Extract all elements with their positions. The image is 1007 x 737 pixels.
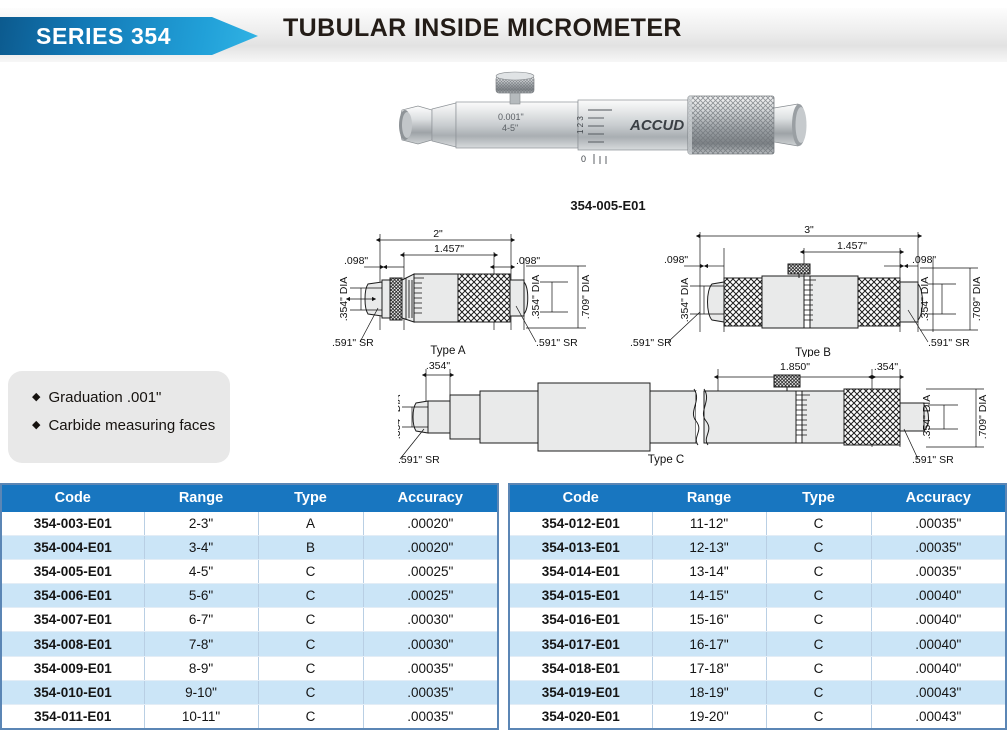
cell-range: 12-13" [652,535,766,559]
scale-range-text: 4-5" [502,123,518,133]
table-row[interactable]: 354-008-E01 7-8" C .00030" [1,632,498,656]
column-header-range: Range [652,484,766,511]
table-row[interactable]: 354-016-E01 15-16" C .00040" [509,608,1006,632]
svg-text:0: 0 [581,154,586,164]
drawing-type-b: 3" 1.457" .098" .098" .354" DIA .354" DI… [628,222,988,362]
table-row[interactable]: 354-019-E01 18-19" C .00043" [509,680,1006,704]
column-header-code: Code [1,484,144,511]
svg-text:1 2 3: 1 2 3 [576,116,585,134]
cell-type: C [766,535,871,559]
table-row[interactable]: 354-004-E01 3-4" B .00020" [1,535,498,559]
dim-left-step: .354" [426,360,450,372]
scale-graduation-text: 0.001" [498,112,524,122]
dim-inner: 1.457" [837,240,867,252]
table-row[interactable]: 354-014-E01 13-14" C .00035" [509,559,1006,583]
dim-left-step: .098" [664,254,688,266]
cell-accuracy: .00030" [363,608,498,632]
cell-accuracy: .00025" [363,584,498,608]
cell-accuracy: .00030" [363,632,498,656]
cell-code: 354-003-E01 [1,511,144,535]
cell-accuracy: .00020" [363,535,498,559]
cell-range: 19-20" [652,705,766,729]
cell-accuracy: .00035" [871,511,1006,535]
cell-type: C [258,705,363,729]
dim-right-step: .354" [874,361,898,373]
cell-code: 354-016-E01 [509,608,652,632]
series-arrow-badge: SERIES 354 [0,17,258,55]
feature-label: Graduation .001" [48,389,161,406]
column-header-range: Range [144,484,258,511]
table-row[interactable]: 354-006-E01 5-6" C .00025" [1,584,498,608]
cell-code: 354-020-E01 [509,705,652,729]
dim-overall: 2" [433,228,443,240]
cell-type: B [258,535,363,559]
cell-range: 13-14" [652,559,766,583]
cell-type: C [258,680,363,704]
cell-range: 10-11" [144,705,258,729]
cell-range: 3-4" [144,535,258,559]
dim-dia-right: .354" DIA [921,395,933,440]
drawing-label-c: Type C [648,454,684,466]
diamond-bullet-icon: ◆ [32,389,40,406]
column-header-accuracy: Accuracy [871,484,1006,511]
dim-overall: 3" [804,224,814,236]
cell-code: 354-004-E01 [1,535,144,559]
cell-type: C [766,584,871,608]
cell-accuracy: .00043" [871,705,1006,729]
table-row[interactable]: 354-017-E01 16-17" C .00040" [509,632,1006,656]
series-label: SERIES 354 [0,23,171,50]
features-box: ◆ Graduation .001" ◆ Carbide measuring f… [8,371,230,463]
table-row[interactable]: 354-011-E01 10-11" C .00035" [1,705,498,729]
feature-item: ◆ Carbide measuring faces [32,417,230,434]
cell-accuracy: .00020" [363,511,498,535]
feature-item: ◆ Graduation .001" [32,389,230,406]
page-title: TUBULAR INSIDE MICROMETER [283,14,682,43]
cell-range: 5-6" [144,584,258,608]
column-header-code: Code [509,484,652,511]
cell-range: 7-8" [144,632,258,656]
dim-dia-right: .354" DIA [919,277,931,322]
cell-type: C [258,608,363,632]
cell-code: 354-019-E01 [509,680,652,704]
table-row[interactable]: 354-013-E01 12-13" C .00035" [509,535,1006,559]
brand-text: ACCUD [629,117,684,134]
table-row[interactable]: 354-010-E01 9-10" C .00035" [1,680,498,704]
dim-sr-right: .591" SR [928,337,970,349]
cell-code: 354-008-E01 [1,632,144,656]
cell-code: 354-005-E01 [1,559,144,583]
dim-left-step: .098" [344,255,368,267]
cell-type: C [258,656,363,680]
spec-table-left: Code Range Type Accuracy 354-003-E01 2-3… [0,483,499,730]
cell-range: 18-19" [652,680,766,704]
cell-code: 354-010-E01 [1,680,144,704]
cell-range: 4-5" [144,559,258,583]
cell-accuracy: .00040" [871,632,1006,656]
dim-sr-left: .591" SR [332,337,374,349]
table-header-row: Code Range Type Accuracy [509,484,1006,511]
cell-accuracy: .00025" [363,559,498,583]
cell-type: C [766,511,871,535]
dim-sr-left: .591" SR [398,454,440,466]
diamond-bullet-icon: ◆ [32,417,40,434]
cell-type: C [258,584,363,608]
spec-table-right: Code Range Type Accuracy 354-012-E01 11-… [508,483,1007,730]
dim-sr-left: .591" SR [630,337,672,349]
column-header-type: Type [766,484,871,511]
feature-label: Carbide measuring faces [48,417,215,434]
cell-accuracy: .00040" [871,584,1006,608]
cell-accuracy: .00040" [871,608,1006,632]
cell-code: 354-007-E01 [1,608,144,632]
cell-code: 354-009-E01 [1,656,144,680]
catalog-page: SERIES 354 TUBULAR INSIDE MICROMETER [0,0,1007,737]
table-row[interactable]: 354-012-E01 11-12" C .00035" [509,511,1006,535]
table-row[interactable]: 354-018-E01 17-18" C .00040" [509,656,1006,680]
dim-dia-left: .354" DIA [398,395,403,440]
cell-range: 9-10" [144,680,258,704]
cell-accuracy: .00035" [363,705,498,729]
drawing-type-c: .354" 1.850" .354" .354" DIA .354" DIA .… [398,355,998,478]
dim-dia-right: .354" DIA [530,275,542,320]
cell-type: C [258,632,363,656]
cell-range: 2-3" [144,511,258,535]
cell-code: 354-006-E01 [1,584,144,608]
dim-sr-right: .591" SR [536,337,578,349]
column-header-accuracy: Accuracy [363,484,498,511]
cell-code: 354-017-E01 [509,632,652,656]
cell-range: 15-16" [652,608,766,632]
cell-type: C [766,656,871,680]
cell-range: 8-9" [144,656,258,680]
table-row[interactable]: 354-020-E01 19-20" C .00043" [509,705,1006,729]
dim-dia-outer: .709" DIA [971,277,983,322]
cell-accuracy: .00035" [363,680,498,704]
table-header-row: Code Range Type Accuracy [1,484,498,511]
product-photo: 0.001" 4-5" 1 2 3 0 ACCUD [398,68,818,188]
dim-right-main: 1.850" [780,361,810,373]
cell-type: C [766,632,871,656]
cell-accuracy: .00035" [871,535,1006,559]
cell-type: A [258,511,363,535]
dim-dia-outer: .709" DIA [580,275,592,320]
cell-range: 6-7" [144,608,258,632]
cell-accuracy: .00035" [363,656,498,680]
cell-type: C [258,559,363,583]
dim-inner: 1.457" [434,243,464,255]
table-row[interactable]: 354-007-E01 6-7" C .00030" [1,608,498,632]
cell-range: 11-12" [652,511,766,535]
cell-accuracy: .00035" [871,559,1006,583]
cell-range: 16-17" [652,632,766,656]
cell-range: 14-15" [652,584,766,608]
cell-code: 354-015-E01 [509,584,652,608]
table-row[interactable]: 354-015-E01 14-15" C .00040" [509,584,1006,608]
cell-code: 354-011-E01 [1,705,144,729]
table-row[interactable]: 354-003-E01 2-3" A .00020" [1,511,498,535]
table-row[interactable]: 354-009-E01 8-9" C .00035" [1,656,498,680]
drawing-type-a: 2" 1.457" .098" .098" .354" DIA .354" DI… [330,222,595,362]
cell-type: C [766,680,871,704]
product-code-caption: 354-005-E01 [398,198,818,213]
cell-type: C [766,705,871,729]
cell-type: C [766,559,871,583]
cell-code: 354-014-E01 [509,559,652,583]
dim-dia-left: .354" DIA [338,277,350,322]
cell-code: 354-013-E01 [509,535,652,559]
dim-right-step: .098" [516,255,540,267]
column-header-type: Type [258,484,363,511]
table-row[interactable]: 354-005-E01 4-5" C .00025" [1,559,498,583]
dim-dia-outer: .709" DIA [977,395,989,440]
cell-type: C [766,608,871,632]
dim-right-step: .098" [912,254,936,266]
cell-range: 17-18" [652,656,766,680]
cell-accuracy: .00040" [871,656,1006,680]
cell-accuracy: .00043" [871,680,1006,704]
dim-dia-left: .354" DIA [679,278,691,323]
dim-sr-right: .591" SR [912,454,954,466]
cell-code: 354-018-E01 [509,656,652,680]
cell-code: 354-012-E01 [509,511,652,535]
